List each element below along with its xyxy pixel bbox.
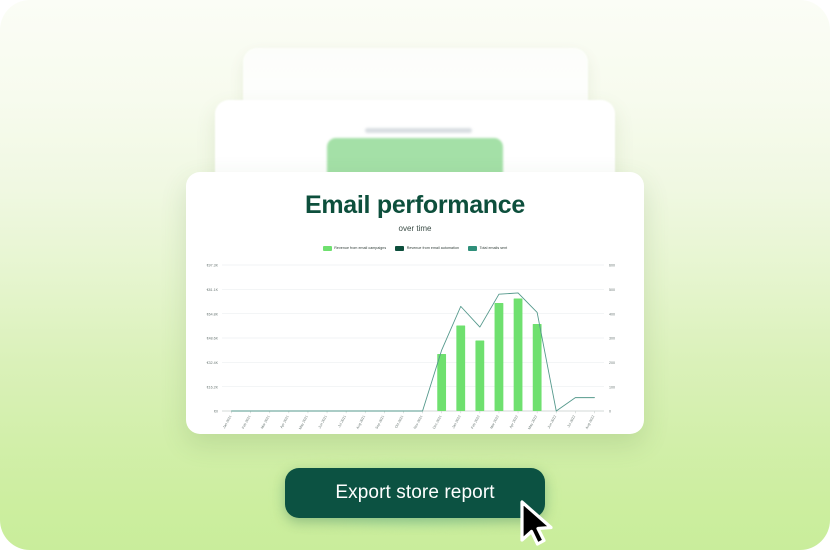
legend-item: Revenue from email automation: [395, 246, 459, 251]
legend-swatch: [468, 246, 477, 251]
x-axis-tick-label: Jun 2022: [547, 414, 557, 429]
x-axis-tick-label: Mar 2022: [489, 414, 499, 429]
x-axis-tick-label: Jul 2022: [566, 414, 576, 428]
chart-bar: [495, 302, 504, 410]
legend-label: Total emails sent: [480, 246, 508, 250]
legend-label: Revenue from email campaigns: [334, 246, 386, 250]
chart-legend: Revenue from email campaignsRevenue from…: [186, 246, 644, 251]
y-axis-right-tick-label: 300: [609, 336, 615, 340]
chart-bar: [475, 340, 484, 411]
x-axis-tick-label: Jul 2021: [337, 414, 347, 428]
chart-svg: €0€16.2K€32.4K€48.6K€64.8K€81.1K€97.3K01…: [186, 259, 644, 435]
promo-scene: Email performance over time Revenue from…: [0, 0, 830, 550]
y-axis-left-tick-label: €64.8K: [207, 312, 219, 316]
x-axis-tick-label: Sep 2021: [375, 414, 386, 429]
page-subtitle: over time: [186, 225, 644, 233]
legend-item: Revenue from email campaigns: [323, 246, 386, 251]
legend-item: Total emails sent: [468, 246, 507, 251]
y-axis-left-tick-label: €81.1K: [207, 287, 219, 291]
y-axis-right-tick-label: 0: [609, 409, 611, 413]
y-axis-right-tick-label: 600: [609, 263, 615, 267]
y-axis-left-tick-label: €0: [214, 409, 218, 413]
x-axis-tick-label: Aug 2021: [356, 414, 367, 429]
x-axis-tick-label: Oct 2021: [394, 414, 404, 428]
x-axis-tick-label: Nov 2021: [413, 414, 424, 429]
x-axis-tick-label: Jan 2022: [451, 414, 461, 429]
chart-bar: [533, 323, 542, 410]
x-axis-tick-label: Aug 2022: [585, 414, 596, 429]
page-title: Email performance: [186, 193, 644, 218]
legend-swatch: [395, 246, 404, 251]
x-axis-tick-label: Apr 2022: [509, 414, 519, 428]
email-performance-card: Email performance over time Revenue from…: [186, 172, 644, 434]
x-axis-tick-label: Jan 2021: [222, 414, 232, 429]
background-card-placeholder-line: [365, 128, 472, 133]
chart-plot-area: €0€16.2K€32.4K€48.6K€64.8K€81.1K€97.3K01…: [186, 259, 644, 435]
chart-bar: [437, 353, 446, 410]
y-axis-right-tick-label: 400: [609, 312, 615, 316]
y-axis-left-tick-label: €32.4K: [207, 360, 219, 364]
y-axis-left-tick-label: €16.2K: [207, 385, 219, 389]
x-axis-tick-label: May 2022: [527, 414, 538, 429]
x-axis-tick-label: Feb 2021: [241, 414, 252, 429]
y-axis-left-tick-label: €97.3K: [207, 263, 219, 267]
y-axis-right-tick-label: 100: [609, 385, 615, 389]
x-axis-tick-label: Feb 2022: [470, 414, 481, 429]
y-axis-right-tick-label: 500: [609, 287, 615, 291]
x-axis-tick-label: Dec 2021: [432, 414, 443, 429]
export-store-report-button[interactable]: Export store report: [285, 468, 545, 518]
x-axis-tick-label: Jun 2021: [318, 414, 328, 429]
x-axis-tick-label: Mar 2021: [260, 414, 270, 429]
y-axis-right-tick-label: 200: [609, 360, 615, 364]
x-axis-tick-label: May 2021: [298, 414, 309, 429]
chart-bar: [514, 298, 523, 411]
y-axis-left-tick-label: €48.6K: [207, 336, 219, 340]
x-axis-tick-label: Apr 2021: [280, 414, 290, 428]
legend-label: Revenue from email automation: [407, 246, 459, 250]
legend-swatch: [323, 246, 332, 251]
chart-bar: [456, 325, 465, 411]
